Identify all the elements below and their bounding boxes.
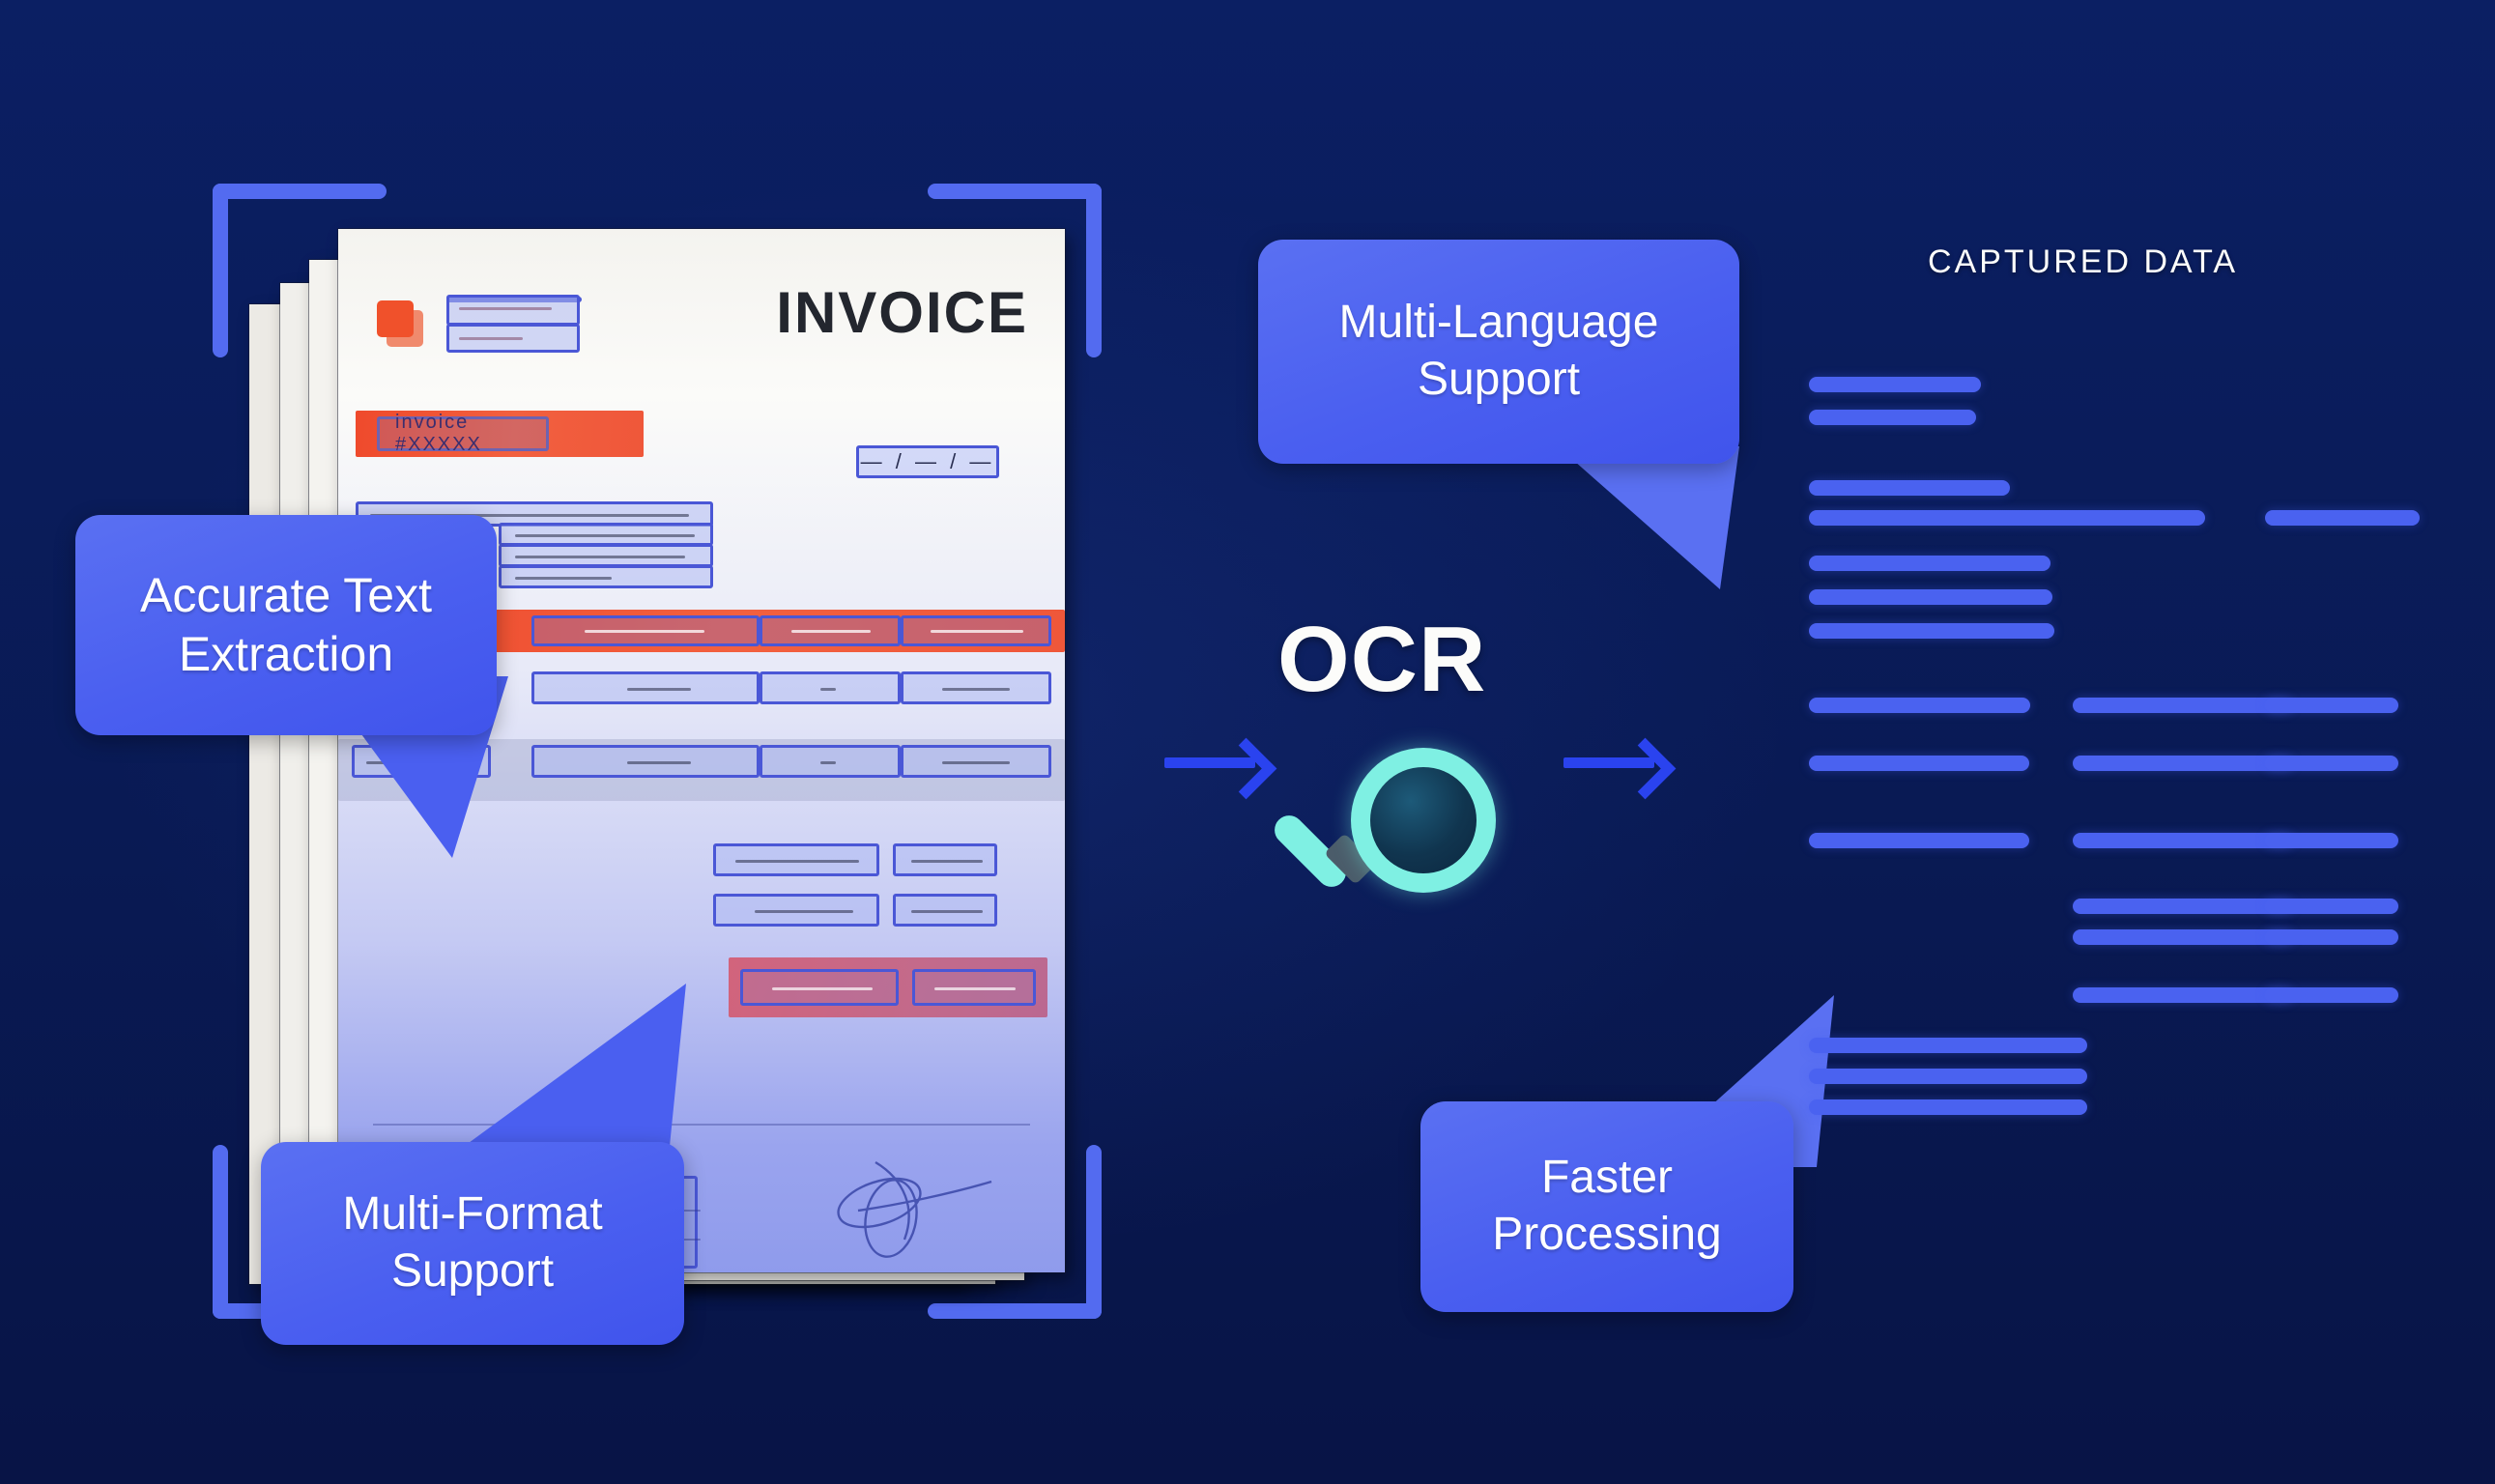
- table-row-1-cell-4[interactable]: [901, 671, 1051, 704]
- data-bar: [2073, 833, 2293, 848]
- data-bar: [1809, 623, 2054, 639]
- subtotal-value-field[interactable]: [893, 843, 997, 876]
- invoice-number-field[interactable]: invoice #XXXXX: [377, 416, 549, 451]
- company-address-field-2[interactable]: [446, 324, 580, 353]
- data-bar: [2265, 929, 2398, 945]
- bubble-line-2: Support: [1418, 352, 1580, 409]
- invoice-date-field[interactable]: — / — / —: [856, 445, 999, 478]
- bubble-faster-processing[interactable]: Faster Processing: [1420, 1101, 1793, 1312]
- arrow-right-icon-in: [1164, 734, 1280, 792]
- ocr-label: OCR: [1277, 607, 1486, 713]
- data-bar: [1809, 1038, 2087, 1053]
- bubble-line-1: Multi-Language: [1339, 295, 1659, 352]
- data-bar: [1809, 410, 1976, 425]
- total-due-value-field[interactable]: [912, 969, 1036, 1006]
- data-bar: [1809, 510, 2205, 526]
- signature-mark: [790, 1147, 1013, 1272]
- table-header-cell-2: [531, 615, 760, 646]
- table-header-cell-4: [901, 615, 1051, 646]
- table-row-2-cell-4[interactable]: [901, 745, 1051, 778]
- company-address-field[interactable]: [446, 295, 580, 326]
- data-bar: [1809, 1069, 2087, 1084]
- table-row-2-cell-2[interactable]: [531, 745, 760, 778]
- tax-label-field[interactable]: [713, 894, 879, 927]
- data-bar: [2073, 929, 2293, 945]
- table-row-2-cell-3[interactable]: [760, 745, 901, 778]
- bubble-line-2: Processing: [1492, 1207, 1721, 1264]
- table-row-1-cell-2[interactable]: [531, 671, 760, 704]
- data-bar: [2265, 899, 2398, 914]
- magnifier-icon: [1276, 744, 1507, 937]
- data-bar: [2265, 756, 2398, 771]
- data-bar: [2073, 698, 2293, 713]
- data-bar: [2073, 987, 2293, 1003]
- bubble-line-2: Support: [391, 1243, 554, 1300]
- data-bar: [2073, 899, 2293, 914]
- bubble-line-1: Accurate Text: [140, 566, 432, 625]
- bubble-multi-language-support[interactable]: Multi-Language Support: [1258, 240, 1739, 464]
- bubble-line-1: Multi-Format: [342, 1186, 602, 1243]
- subtotal-label-field[interactable]: [713, 843, 879, 876]
- bubble-line-2: Extraction: [179, 625, 393, 684]
- data-bar: [1809, 1099, 2087, 1115]
- data-bar: [2265, 698, 2398, 713]
- bubble-multi-format-support[interactable]: Multi-Format Support: [261, 1142, 684, 1345]
- bill-to-field-2[interactable]: [499, 523, 713, 546]
- data-bar: [2073, 756, 2293, 771]
- data-bar: [2265, 987, 2398, 1003]
- data-bar: [1809, 756, 2029, 771]
- data-bar: [1809, 556, 2050, 571]
- data-bar: [1809, 377, 1981, 392]
- invoice-title: INVOICE: [776, 279, 1028, 346]
- bubble-tail-multi-language-support: [1558, 446, 1780, 591]
- ocr-infographic-canvas: INVOICE invoice #XXXXX — / — / —: [0, 0, 2495, 1484]
- data-bar: [1809, 589, 2052, 605]
- data-bar: [1809, 698, 2030, 713]
- data-bar: [1809, 480, 2010, 496]
- data-bar: [2265, 510, 2420, 526]
- table-header-cell-3: [760, 615, 901, 646]
- total-due-label-field[interactable]: [740, 969, 899, 1006]
- company-logo-icon: [377, 300, 431, 355]
- bubble-accurate-text-extraction[interactable]: Accurate Text Extraction: [75, 515, 497, 735]
- data-bar: [1809, 833, 2029, 848]
- data-bar: [2265, 833, 2398, 848]
- bill-to-field-4[interactable]: [499, 565, 713, 588]
- arrow-right-icon-out: [1563, 734, 1679, 792]
- tax-value-field[interactable]: [893, 894, 997, 927]
- captured-data-title: CAPTURED DATA: [1928, 243, 2238, 281]
- bill-to-field-3[interactable]: [499, 544, 713, 567]
- bubble-line-1: Faster: [1541, 1150, 1673, 1207]
- table-row-1-cell-3[interactable]: [760, 671, 901, 704]
